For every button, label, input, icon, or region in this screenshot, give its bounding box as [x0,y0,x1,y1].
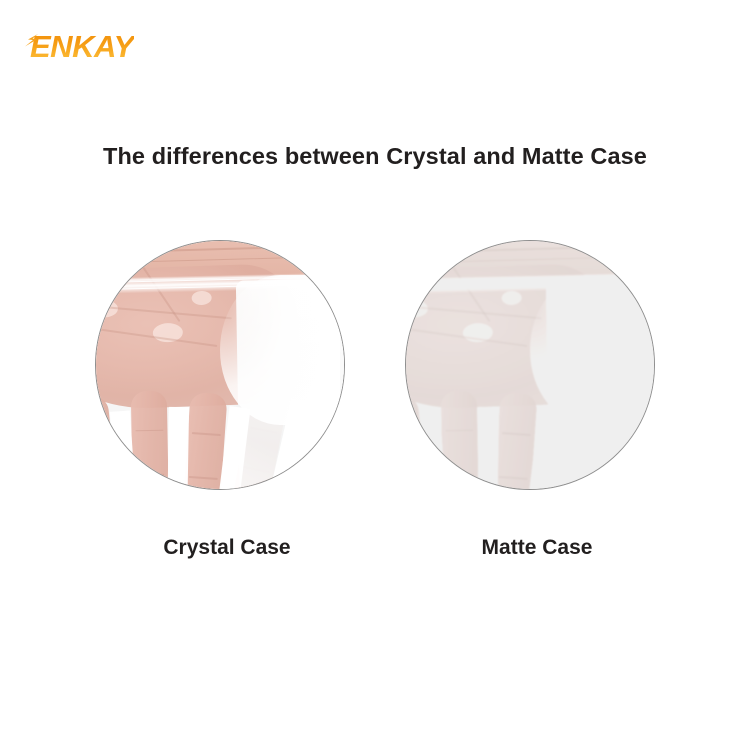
brand-logo: ENKAY [30,26,190,68]
hand-photo-matte [405,240,655,490]
spark-icon [25,34,39,47]
product-comparison-image: ENKAY The differences between Crystal an… [0,0,750,750]
phone-case-corner [220,275,340,425]
finger [131,391,169,490]
brand-name: ENKAY [30,26,134,68]
finger-gap [167,407,189,490]
photo-circle-crystal [95,240,345,490]
finger-gap [477,407,499,490]
page-title: The differences between Crystal and Matt… [0,143,750,170]
comparison-panel-crystal [95,240,345,490]
photo-circle-matte [405,240,655,490]
finger [441,391,479,490]
comparison-panel-matte [405,240,655,490]
caption-matte-case: Matte Case [412,536,662,560]
hand-photo-crystal [95,240,345,490]
caption-crystal-case: Crystal Case [102,536,352,560]
phone-case-corner [530,275,650,425]
